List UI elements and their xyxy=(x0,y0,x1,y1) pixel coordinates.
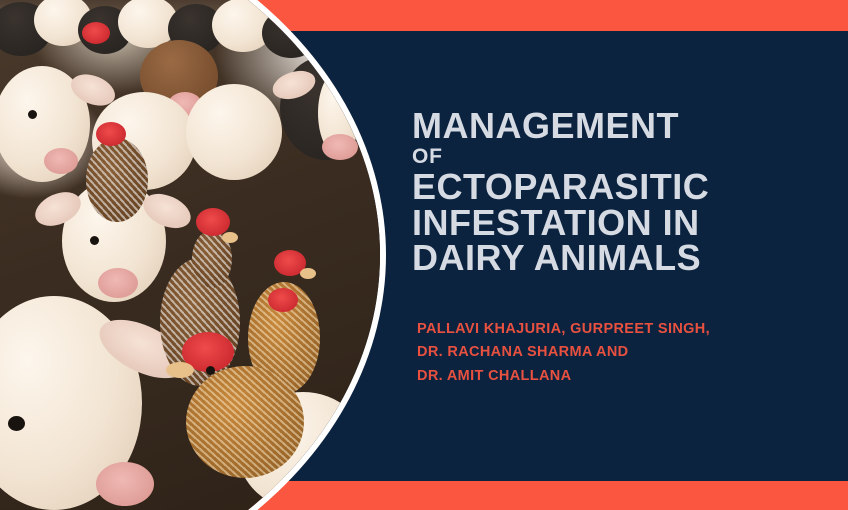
chicken-top-comb-icon xyxy=(96,122,126,146)
author-line-3: DR. AMIT CHALLANA xyxy=(417,365,837,388)
chicken-far-comb-icon xyxy=(82,22,110,44)
cover-photo-ellipse-frame xyxy=(0,0,380,510)
poster-canvas: MANAGEMENT OF ECTOPARASITIC INFESTATION … xyxy=(0,0,848,510)
cow-midleft-eye xyxy=(28,110,37,119)
chicken-gold-beak-icon xyxy=(300,268,316,279)
cow-foreground-eye xyxy=(8,416,25,431)
cow-foreground-muzzle xyxy=(96,462,154,506)
chicken-front-beak-icon xyxy=(166,362,194,378)
cow-right-muzzle xyxy=(322,134,358,160)
chicken-speckled-beak-icon xyxy=(222,232,238,243)
title-line-5: DAIRY ANIMALS xyxy=(412,240,832,276)
cow-distant-8 xyxy=(306,0,370,54)
author-line-1: PALLAVI KHAJURIA, GURPREET SINGH, xyxy=(417,318,837,341)
text-column: MANAGEMENT OF ECTOPARASITIC INFESTATION … xyxy=(412,0,832,510)
chicken-top-body xyxy=(86,138,148,222)
cow-midleft-muzzle xyxy=(44,148,78,174)
cover-photo xyxy=(0,0,380,510)
title-line-3: ECTOPARASITIC xyxy=(412,169,832,205)
chicken-gold2-comb-icon xyxy=(268,288,298,312)
cow-center-muzzle xyxy=(98,268,138,298)
chicken-front-body xyxy=(186,366,304,478)
chicken-front-eye xyxy=(206,366,215,375)
cow-midright-body xyxy=(186,84,282,180)
cow-center-eye xyxy=(90,236,99,245)
title-line-4: INFESTATION IN xyxy=(412,205,832,241)
author-line-2: DR. RACHANA SHARMA AND xyxy=(417,341,837,364)
title-line-1: MANAGEMENT xyxy=(412,108,832,144)
author-list: PALLAVI KHAJURIA, GURPREET SINGH, DR. RA… xyxy=(417,318,837,388)
page-title: MANAGEMENT OF ECTOPARASITIC INFESTATION … xyxy=(412,108,832,276)
